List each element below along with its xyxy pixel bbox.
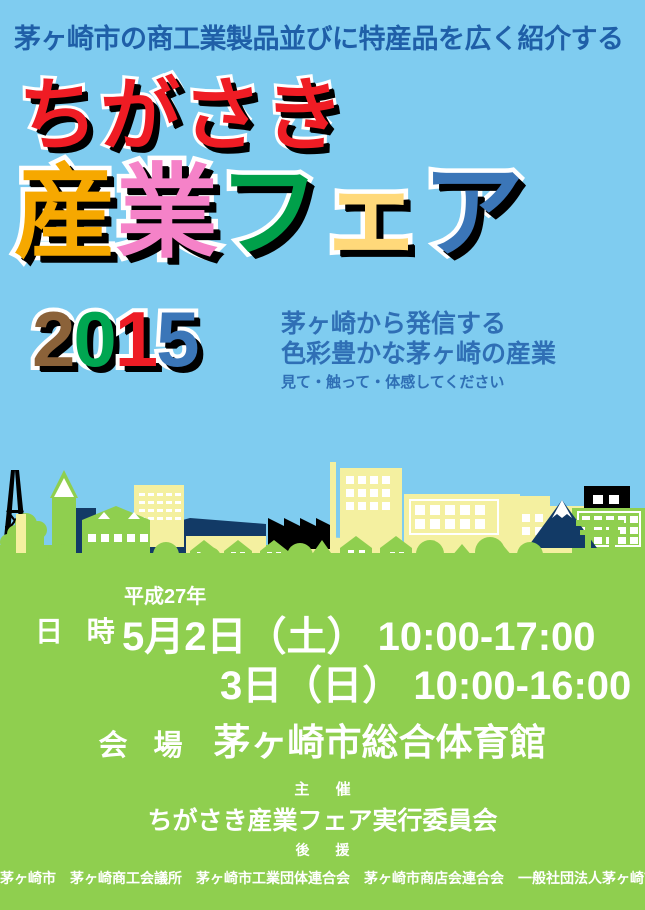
year-digit-0: 0	[73, 300, 114, 378]
tagline-block: 茅ヶ崎から発信する 色彩豊かな茅ヶ崎の産業 見て・触って・体感してください	[281, 310, 556, 392]
supporters-label: 後 援	[0, 840, 645, 860]
city-skyline-illustration	[0, 448, 645, 563]
venue-block: 会 場茅ヶ崎市総合体育館	[0, 712, 645, 766]
title-char-san: 産	[14, 162, 116, 264]
venue-label: 会 場	[98, 730, 191, 762]
tagline-line-3: 見て・触って・体感してください	[281, 374, 556, 392]
supporters-block: 後 援 茅ヶ崎市 茅ヶ崎商工会議所 茅ヶ崎市工業団体連合会 茅ヶ崎市商店会連合会…	[0, 840, 645, 888]
organizer-name: ちがさき産業フェア実行委員会	[0, 801, 645, 837]
title-chigasaki: ちがさき	[18, 76, 346, 156]
title-char-gyo: 業	[116, 162, 218, 264]
tagline-line-1: 茅ヶ崎から発信する	[281, 310, 556, 340]
organizer-label: 主 催	[0, 778, 645, 799]
year-2015: 2015	[32, 300, 198, 378]
date-label: 日 時	[35, 610, 123, 650]
poster-root: 茅ヶ崎市の商工業製品並びに特産品を広く紹介する ちがさき 産業フェア 2015 …	[0, 0, 645, 910]
year-digit-1: 1	[115, 300, 156, 378]
supporters-list: 茅ヶ崎市 茅ヶ崎商工会議所 茅ヶ崎市工業団体連合会 茅ヶ崎市商店会連合会 一般社…	[0, 868, 645, 888]
headline-text: 茅ヶ崎市の商工業製品並びに特産品を広く紹介する	[14, 26, 634, 53]
year-digit-2: 2	[32, 300, 73, 378]
title-sangyo-fair: 産業フェア	[14, 162, 524, 264]
date-line-2: 3日（日） 10:00-16:00	[220, 653, 631, 711]
organizer-block: 主 催 ちがさき産業フェア実行委員会	[0, 778, 645, 837]
title-char-fu: フ	[218, 162, 320, 264]
year-digit-5: 5	[156, 300, 197, 378]
title-char-e: ェ	[320, 162, 422, 264]
venue-name: 茅ヶ崎市総合体育館	[214, 722, 547, 763]
title-char-a: ア	[422, 162, 524, 264]
tagline-line-2: 色彩豊かな茅ヶ崎の産業	[281, 340, 556, 370]
